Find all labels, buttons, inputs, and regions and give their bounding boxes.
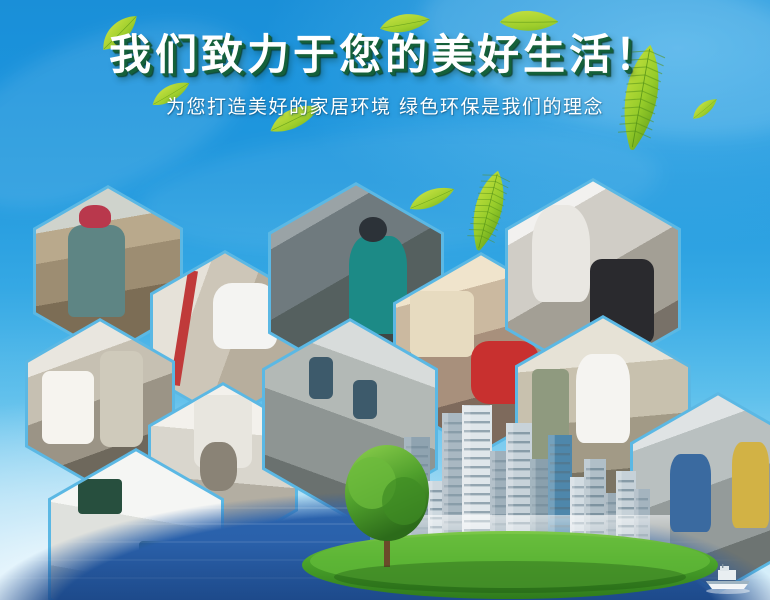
leaf-scatter-right-icon — [688, 95, 722, 122]
leaf-top-center-icon — [378, 7, 431, 42]
leaf-mid-left-icon — [266, 100, 324, 137]
building-window-row — [464, 466, 490, 468]
leaf-under-title-icon — [148, 78, 194, 110]
building-window-row — [508, 477, 530, 479]
building-window-row — [464, 457, 490, 459]
building-window-row — [444, 458, 462, 460]
leaf-mid-center-icon — [407, 184, 457, 215]
page-title: 我们致力于您的美好生活！ — [0, 34, 770, 76]
boat — [700, 564, 756, 599]
headline-block: 我们致力于您的美好生活！ 为您打造美好的家居环境 绿色环保是我们的理念 — [0, 34, 770, 119]
page-subtitle: 为您打造美好的家居环境 绿色环保是我们的理念 — [0, 92, 770, 119]
sky-streak-right — [409, 0, 770, 165]
leaf-top-left-icon — [93, 10, 147, 56]
building-window-row — [492, 478, 506, 480]
building-window-row — [444, 476, 462, 478]
building-window-row — [492, 469, 506, 471]
leaf-top-right-icon — [496, 0, 561, 46]
building-window-row — [492, 460, 506, 462]
promo-banner: 我们致力于您的美好生活！ 为您打造美好的家居环境 绿色环保是我们的理念 — [0, 0, 770, 600]
leaf-title-right-icon — [606, 38, 677, 157]
building-window-row — [444, 449, 462, 451]
water-surface — [0, 485, 770, 600]
building-window-row — [444, 467, 462, 469]
building-window-row — [464, 475, 490, 477]
